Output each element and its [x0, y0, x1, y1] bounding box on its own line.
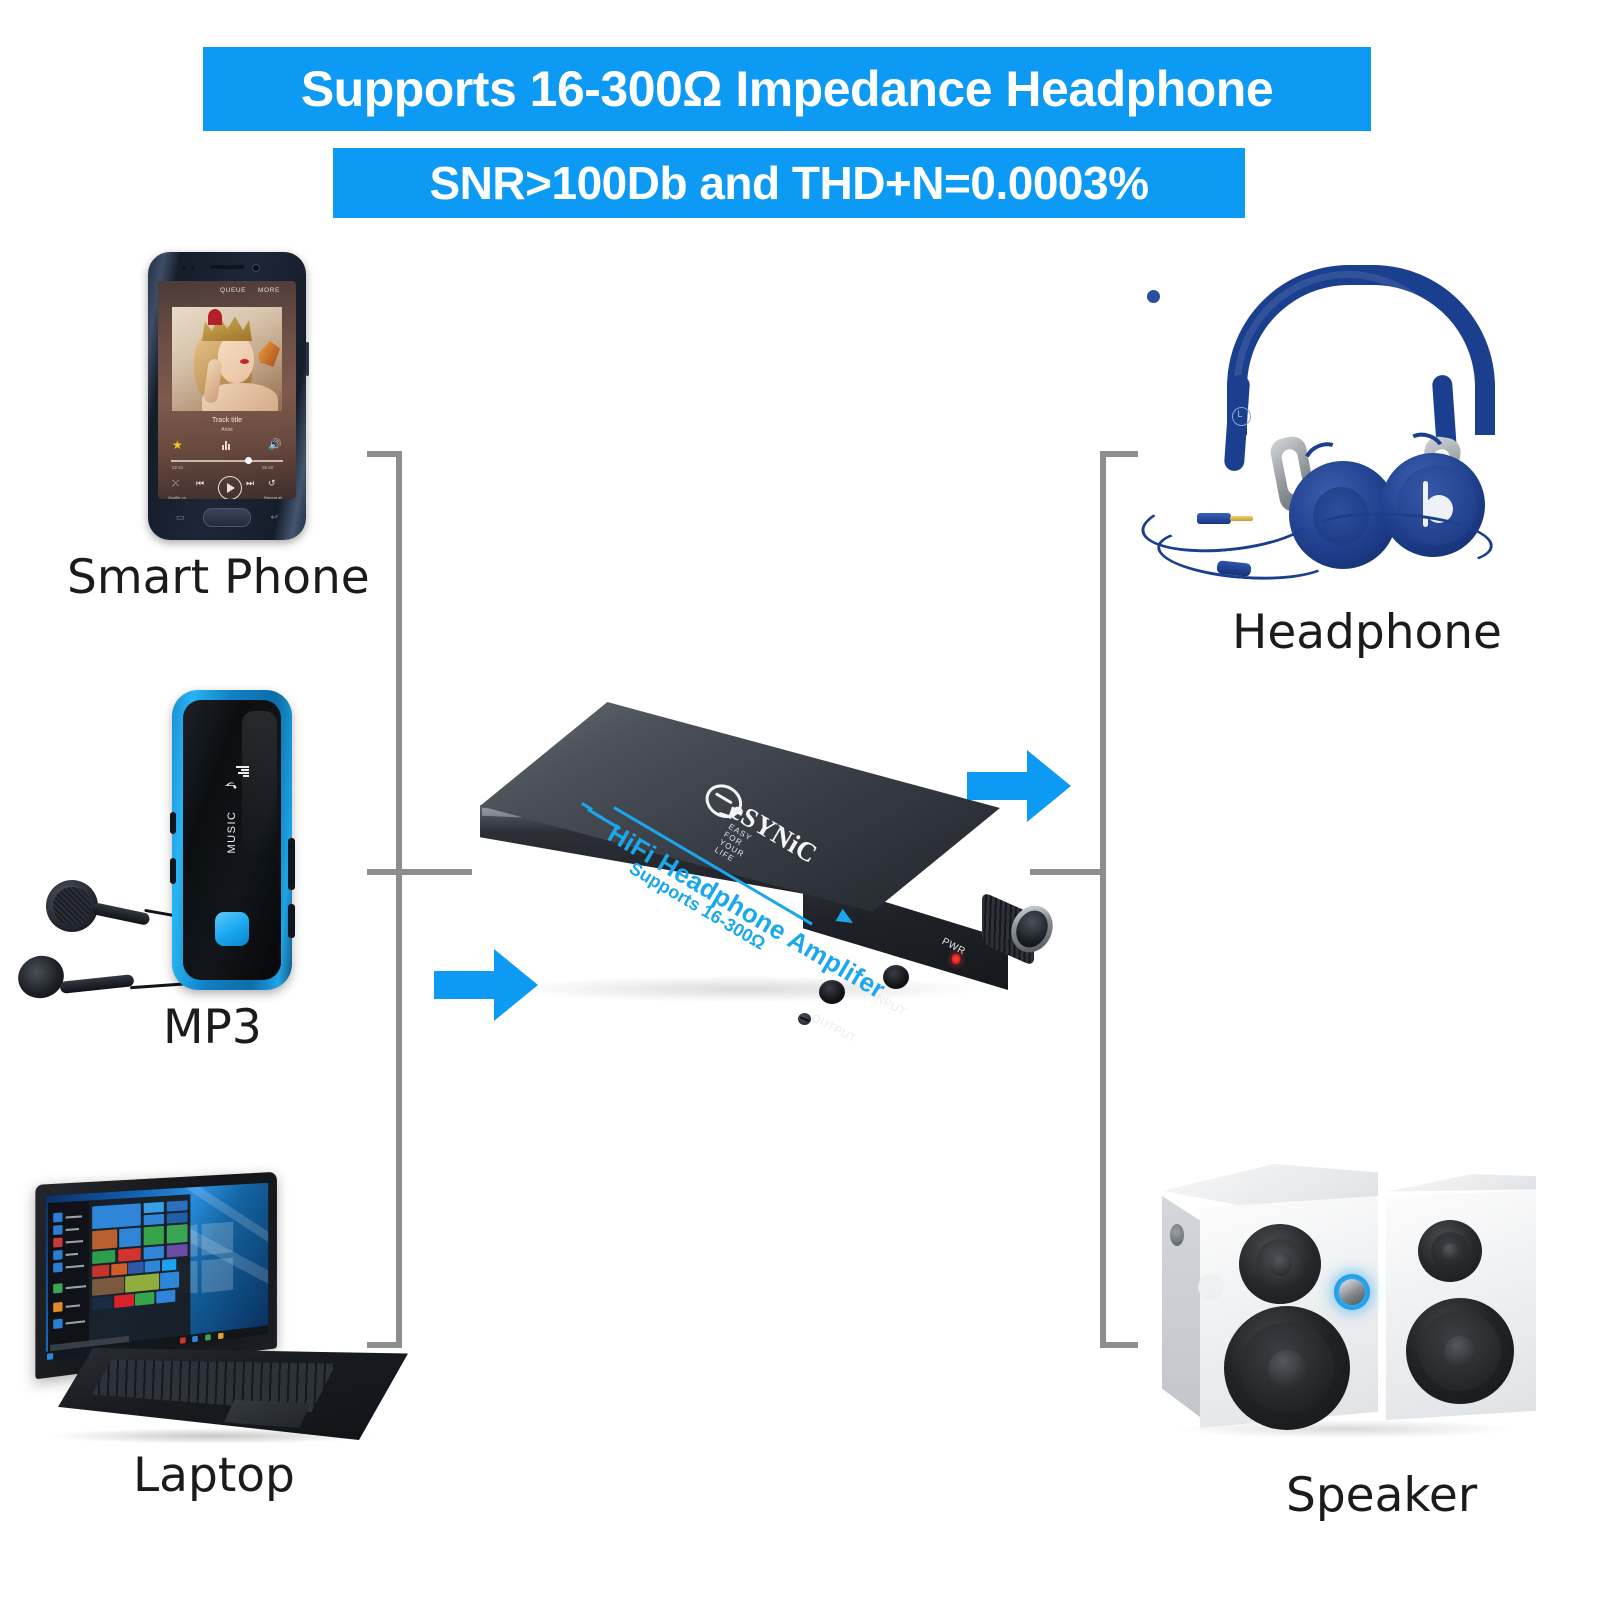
start-menu-app-list[interactable]: [48, 1200, 89, 1352]
player-track-title: Track title: [158, 417, 296, 424]
next-track-icon[interactable]: ⏭: [246, 477, 254, 489]
repeat-icon[interactable]: ↺: [268, 477, 276, 489]
progress-handle[interactable]: [245, 457, 252, 464]
mp3-player-device: ♪ MUSIC: [172, 690, 292, 990]
phone-home-button[interactable]: [203, 508, 251, 527]
earbud-right: [13, 950, 70, 1004]
mp3-front-face: ♪ MUSIC: [183, 700, 281, 980]
phone-sensor-icon: [182, 266, 186, 270]
headphone-plug: [1197, 513, 1253, 524]
plug-35mm-pin-icon: [1230, 516, 1253, 521]
phone-recents-icon[interactable]: ▭: [176, 512, 185, 523]
phone-sensor2-icon: [191, 266, 194, 269]
player-artist-name: Artist: [158, 427, 296, 433]
mp3-side-button-2[interactable]: [170, 858, 176, 884]
player-transport-controls: ⤬ Shuffle on ⏮ ⏭ ↺ Repeat all: [168, 477, 286, 499]
infographic-canvas: Supports 16-300Ω Impedance Headphone SNR…: [0, 0, 1600, 1600]
right-bracket-spine: [1100, 451, 1106, 1348]
speaker-volume-knob[interactable]: [1334, 1274, 1370, 1310]
player-topbar: QUEUE MORE: [158, 281, 296, 303]
input-jack-port[interactable]: [883, 965, 909, 989]
laptop-shadow: [48, 1428, 378, 1444]
smart-phone-device: QUEUE MORE Track title Artist ★: [148, 252, 306, 540]
earbud-right-stem: [60, 974, 135, 994]
caption-mp3: MP3: [163, 1000, 262, 1055]
mp3-side-button-3[interactable]: [288, 838, 295, 890]
start-menu[interactable]: [48, 1194, 190, 1352]
volume-knob[interactable]: [982, 895, 1050, 963]
caption-smart-phone: Smart Phone: [67, 550, 370, 605]
player-time-elapsed: 02:41: [172, 465, 183, 470]
caption-speaker: Speaker: [1286, 1468, 1477, 1523]
equalizer-icon[interactable]: [222, 440, 232, 450]
artwork-wing: [258, 341, 280, 367]
speaker-rear-tweeter-dome: [1442, 1243, 1459, 1261]
speaker-pair: [1140, 1138, 1540, 1450]
player-more-label[interactable]: MORE: [258, 287, 280, 294]
headphone-amplifier-device: HiFi Headphone Amplifer Supports 16-300Ω…: [470, 690, 1070, 1080]
album-artwork: [172, 307, 282, 411]
play-button[interactable]: [218, 476, 242, 499]
speaker-rear-woofer-dome: [1444, 1336, 1476, 1368]
phone-body: QUEUE MORE Track title Artist ★: [148, 252, 306, 540]
beats-logo-cutout: [1147, 290, 1160, 303]
favorite-star-icon[interactable]: ★: [172, 439, 183, 451]
player-queue-label[interactable]: QUEUE: [220, 287, 246, 294]
left-bracket-mp3-stub: [367, 869, 472, 875]
shuffle-icon[interactable]: ⤬: [172, 477, 179, 489]
earbud-left-stem: [91, 902, 150, 926]
artwork-face: [218, 335, 254, 383]
caption-headphone: Headphone: [1232, 605, 1502, 660]
phone-front-camera-icon: [252, 264, 260, 272]
right-bracket-speaker-stub: [1100, 1342, 1138, 1348]
laptop-device: hp: [18, 1178, 410, 1450]
right-bracket-headphone-stub: [1100, 451, 1138, 457]
shuffle-label: Shuffle on: [168, 495, 186, 499]
plug-housing: [1197, 513, 1231, 524]
output-port-label: OUTPUT: [809, 1012, 858, 1046]
phone-side-button: [306, 342, 309, 376]
repeat-label: Repeat all: [264, 495, 282, 499]
left-bracket-phone-stub: [367, 451, 402, 457]
phone-screen: QUEUE MORE Track title Artist ★: [158, 281, 296, 499]
laptop-lid: hp: [35, 1172, 277, 1380]
amplifier-front-screw: [798, 1013, 811, 1025]
caption-laptop: Laptop: [133, 1448, 295, 1503]
output-jack-port[interactable]: [819, 980, 845, 1004]
mp3-body: ♪ MUSIC: [172, 690, 292, 990]
power-led-indicator: [952, 954, 960, 964]
artwork-crown-jewel: [208, 309, 222, 325]
phone-earpiece: [210, 265, 244, 269]
speaker-indicator-ring: [1198, 1274, 1224, 1300]
left-ear-marker-icon: [1232, 407, 1251, 426]
speaker-front-woofer-dome: [1268, 1350, 1306, 1388]
left-bracket-laptop-stub: [367, 1342, 402, 1348]
progress-track: [171, 460, 283, 462]
left-bracket-spine: [396, 451, 402, 1348]
player-progress-bar[interactable]: [171, 459, 283, 462]
artwork-lips: [240, 359, 249, 364]
mp3-action-button[interactable]: [215, 912, 249, 946]
laptop-screen: [46, 1183, 268, 1361]
headline-banner-snr: SNR>100Db and THD+N=0.0003%: [333, 148, 1245, 218]
headphone-device: [1135, 265, 1535, 595]
mp3-side-button-1[interactable]: [170, 812, 176, 834]
phone-back-icon[interactable]: ↩: [270, 512, 278, 523]
mp3-screen-word: MUSIC: [226, 811, 238, 854]
amplifier-shadow: [510, 976, 980, 1002]
mp3-side-button-4[interactable]: [288, 904, 295, 938]
speaker-bass-port: [1170, 1224, 1184, 1246]
volume-icon[interactable]: 🔊: [268, 439, 282, 451]
earbuds: [18, 880, 158, 1020]
player-time-total: 05:20: [262, 465, 273, 470]
headline-banner-impedance: Supports 16-300Ω Impedance Headphone: [203, 47, 1371, 131]
music-note-icon: ♪: [220, 781, 243, 791]
player-icon-row: ★ 🔊: [170, 439, 284, 453]
mp3-equalizer-icon: [235, 761, 249, 777]
mp3-screen: ♪ MUSIC: [204, 760, 260, 880]
previous-track-icon[interactable]: ⏮: [196, 477, 204, 489]
speaker-front-tweeter-dome: [1270, 1252, 1292, 1276]
earbud-left: [46, 880, 98, 932]
